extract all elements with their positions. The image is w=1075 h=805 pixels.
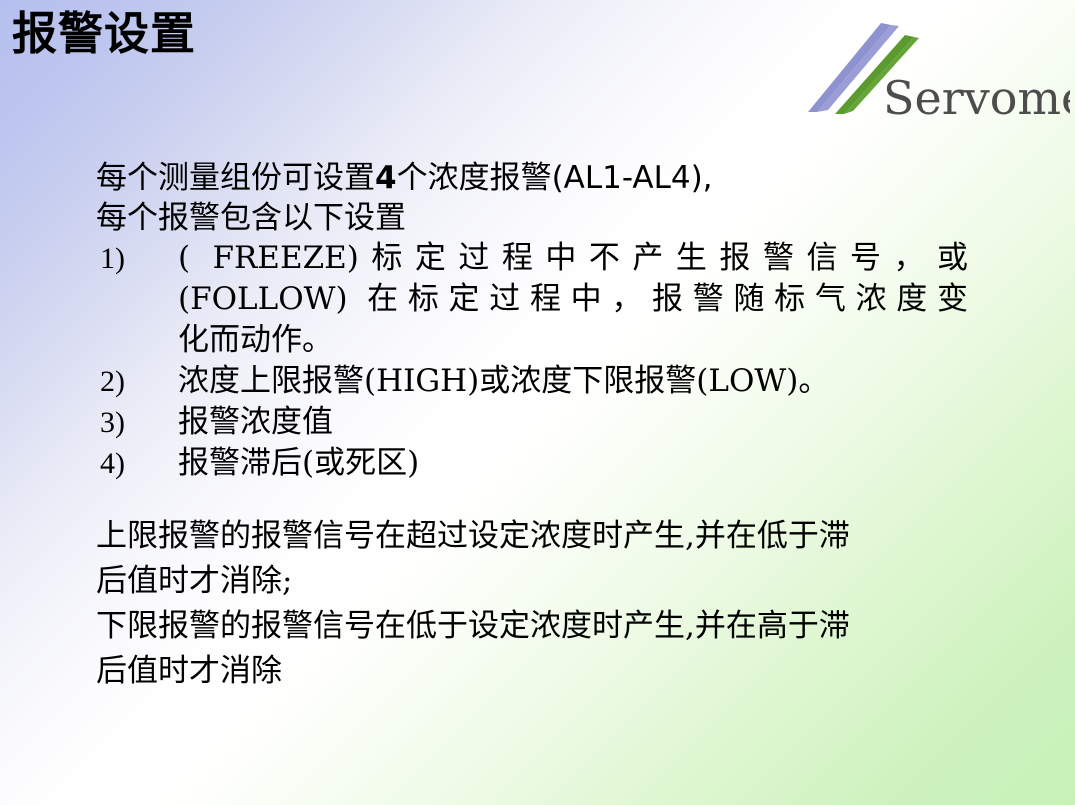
list-item-line: 浓度上限报警(HIGH)或浓度下限报警(LOW)。 [178, 361, 1016, 402]
slide-body: 每个测量组份可设置4个浓度报警(AL1-AL4), 每个报警包含以下设置 1) … [96, 158, 1016, 694]
summary-line: 上限报警的报警信号在超过设定浓度时产生,并在低于滞 [96, 518, 850, 554]
list-item-line: 化而动作。 [178, 320, 1016, 361]
slide-canvas: 报警设置 Servomex 每个测量组份可设置4个浓度报警(AL1-AL4), … [0, 0, 1075, 805]
summary-paragraph: 上限报警的报警信号在超过设定浓度时产生,并在低于滞 后值时才消除; 下限报警的报… [96, 514, 1016, 694]
lead-text-1: 每个测量组份可设置 [96, 160, 375, 196]
list-item-line: 报警滞后(或死区) [178, 443, 1016, 484]
list-marker: 2) [100, 361, 125, 402]
lead-line-1: 每个测量组份可设置4个浓度报警(AL1-AL4), [96, 158, 1016, 198]
list-item: 3) 报警浓度值 [96, 402, 1016, 443]
summary-line: 后值时才消除 [96, 653, 282, 689]
list-item: 1) ( FREEZE)标定过程中不产生报警信号，或 (FOLLOW) 在标定过… [96, 238, 1016, 361]
list-item-line: (FOLLOW) 在标定过程中，报警随标气浓度变 [178, 279, 968, 320]
lead-text-2: 个浓度报警 [397, 160, 552, 196]
list-marker: 3) [100, 402, 125, 443]
summary-line: 后值时才消除; [96, 563, 292, 599]
list-item-line: 报警浓度值 [178, 402, 1016, 443]
list-marker: 1) [100, 238, 125, 279]
content-spacer [96, 484, 1016, 514]
list-item: 2) 浓度上限报警(HIGH)或浓度下限报警(LOW)。 [96, 361, 1016, 402]
list-marker: 4) [100, 443, 125, 484]
summary-line: 下限报警的报警信号在低于设定浓度时产生,并在高于滞 [96, 608, 850, 644]
lead-number: 4 [375, 160, 397, 196]
page-title: 报警设置 [12, 8, 196, 60]
list-item-line: ( FREEZE)标定过程中不产生报警信号，或 [178, 238, 968, 279]
settings-list: 1) ( FREEZE)标定过程中不产生报警信号，或 (FOLLOW) 在标定过… [96, 238, 1016, 484]
lead-alarm-range-code: (AL1-AL4), [552, 160, 713, 196]
lead-line-2: 每个报警包含以下设置 [96, 198, 1016, 238]
list-item: 4) 报警滞后(或死区) [96, 443, 1016, 484]
servomex-logo: Servomex [795, 14, 1070, 126]
logo-wordmark: Servomex [883, 71, 1070, 125]
